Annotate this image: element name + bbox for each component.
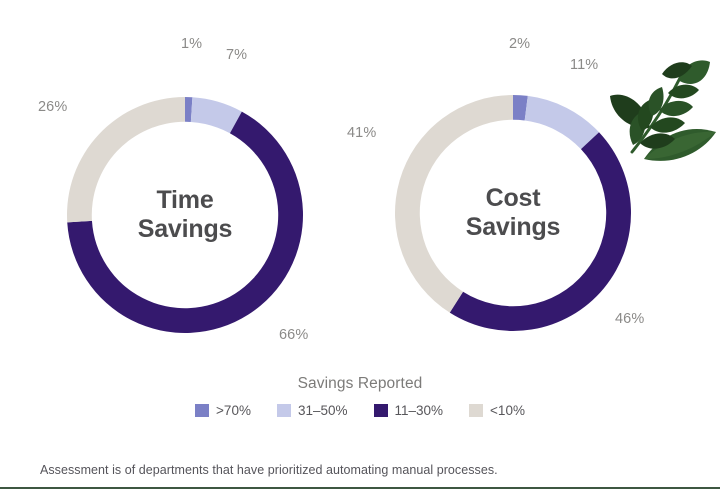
callout-time-11-30: 66%: [279, 327, 308, 343]
callout-time-lt10: 26%: [38, 99, 67, 115]
chart-legend: Savings Reported >70%31–50%11–30%<10%: [0, 375, 720, 418]
legend-item-label: <10%: [490, 403, 525, 418]
footnote-text: Assessment is of departments that have p…: [40, 463, 498, 477]
legend-swatch-icon: [374, 404, 388, 417]
legend-item-label: 11–30%: [395, 403, 444, 418]
cost-savings-segment[interactable]: [395, 95, 513, 313]
legend-swatch-icon: [469, 404, 483, 417]
legend-item[interactable]: <10%: [469, 403, 525, 418]
callout-cost-lt10: 41%: [347, 125, 376, 141]
callout-time-31-50: 7%: [226, 47, 247, 63]
callout-cost-11-30: 46%: [615, 311, 644, 327]
donut-chart-time-savings: Time Savings: [65, 95, 305, 335]
legend-item[interactable]: 11–30%: [374, 403, 444, 418]
legend-items: >70%31–50%11–30%<10%: [195, 403, 525, 418]
legend-swatch-icon: [277, 404, 291, 417]
donut-time-savings-svg: [65, 95, 305, 335]
legend-item-label: >70%: [216, 403, 251, 418]
bottom-divider: [0, 487, 720, 489]
cost-savings-segment[interactable]: [525, 96, 599, 149]
time-savings-segment[interactable]: [67, 97, 185, 222]
legend-item[interactable]: >70%: [195, 403, 251, 418]
legend-item[interactable]: 31–50%: [277, 403, 348, 418]
legend-item-label: 31–50%: [298, 403, 348, 418]
chart-canvas: Time Savings 1% 7% 66% 26% Cost Savings …: [0, 0, 720, 492]
callout-time-gt70: 1%: [181, 36, 202, 52]
legend-swatch-icon: [195, 404, 209, 417]
legend-title: Savings Reported: [298, 375, 423, 393]
callout-cost-gt70: 2%: [509, 36, 530, 52]
leaf-sprig-icon: [592, 60, 720, 180]
